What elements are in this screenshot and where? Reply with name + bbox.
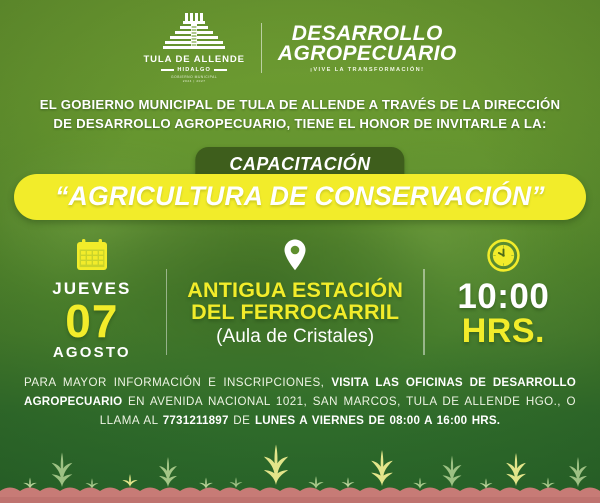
logo-city-name: TULA DE ALLENDE (143, 54, 244, 65)
place-name-line-2: DEL FERROCARRIL (187, 301, 403, 323)
title-block: CAPACITACIÓN “AGRICULTURA DE CONSERVACIÓ… (0, 147, 600, 215)
plants-soil-border (0, 437, 600, 503)
pyramid-icon (163, 13, 225, 53)
invitation-line-1: EL GOBIERNO MUNICIPAL DE TULA DE ALLENDE… (18, 95, 582, 114)
footer-phone: 7731211897 (163, 414, 229, 427)
footer-info: PARA MAYOR INFORMACIÓN E INSCRIPCIONES, … (0, 373, 600, 430)
brand-line-1: DESARROLLO (292, 24, 443, 44)
flyer-content: TULA DE ALLENDE HIDALGO GOBIERNO MUNICIP… (0, 0, 600, 503)
location-pin-icon (282, 238, 308, 272)
detail-date: JUEVES 07 AGOSTO (24, 231, 160, 361)
location-icon-slot (282, 231, 308, 279)
rule-right (214, 69, 227, 71)
brand-line-2: AGROPECUARIO (278, 44, 457, 64)
place-room: (Aula de Cristales) (216, 326, 374, 348)
brand-block: DESARROLLO AGROPECUARIO ¡VIVE LA TRANSFO… (278, 24, 457, 73)
place-name-line-1: ANTIGUA ESTACIÓN (187, 279, 403, 301)
footer-part-3: DE (229, 414, 255, 427)
time-value: 10:00 (457, 279, 549, 314)
detail-time: 10:00 HRS. (431, 231, 576, 361)
title-main-pill: “AGRICULTURA DE CONSERVACIÓN” (14, 174, 586, 220)
logo-rule: HIDALGO (161, 67, 227, 73)
header-divider (261, 23, 262, 73)
calendar-icon-slot (75, 231, 109, 279)
place-name: ANTIGUA ESTACIÓN DEL FERROCARRIL (187, 279, 403, 323)
footer-part-1: PARA MAYOR INFORMACIÓN E INSCRIPCIONES, (24, 376, 331, 389)
invitation-line-2: DE DESARROLLO AGROPECUARIO, TIENE EL HON… (18, 114, 582, 133)
logo-state-name: HIDALGO (177, 67, 211, 73)
title-main-text: “AGRICULTURA DE CONSERVACIÓN” (55, 181, 545, 211)
footer-bold-hours: LUNES A VIERNES DE 08:00 A 16:00 HRS. (255, 414, 500, 427)
logo-subtitle: GOBIERNO MUNICIPAL (171, 75, 217, 79)
rule-left (161, 69, 174, 71)
flyer: TULA DE ALLENDE HIDALGO GOBIERNO MUNICIP… (0, 0, 600, 503)
invitation-text: EL GOBIERNO MUNICIPAL DE TULA DE ALLENDE… (0, 95, 600, 133)
details-divider-left (166, 269, 167, 355)
details-divider-right (423, 269, 424, 355)
calendar-icon (75, 238, 109, 272)
date-day: 07 (65, 299, 118, 343)
details-row: JUEVES 07 AGOSTO ANTIGUA ESTACIÓN DEL FE… (0, 231, 600, 361)
clock-icon (487, 239, 520, 272)
time-unit: HRS. (462, 314, 545, 348)
date-month: AGOSTO (53, 344, 131, 361)
header: TULA DE ALLENDE HIDALGO GOBIERNO MUNICIP… (0, 0, 600, 82)
clock-icon-slot (487, 231, 520, 279)
municipal-logo: TULA DE ALLENDE HIDALGO GOBIERNO MUNICIP… (143, 13, 244, 83)
detail-place: ANTIGUA ESTACIÓN DEL FERROCARRIL (Aula d… (173, 231, 417, 361)
brand-tagline: ¡VIVE LA TRANSFORMACIÓN! (310, 67, 424, 73)
logo-years: 2024 | 2027 (183, 79, 206, 83)
